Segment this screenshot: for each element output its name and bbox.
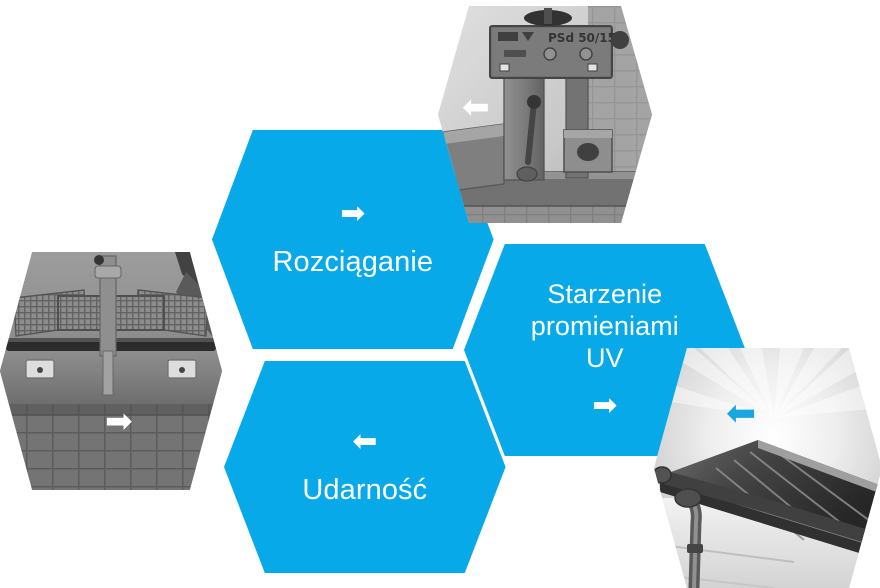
hex-caption-starzenie-uv: Starzenie promieniami UV: [531, 279, 679, 375]
hex-photo-tensile-testing-rig: ➡: [0, 252, 222, 490]
hex-caption-rozciaganie: Rozciąganie: [272, 245, 433, 279]
infographic-canvas: ➡ ➡ Rozciąganie: [0, 0, 880, 585]
hex-photo-impact-tester: PSd 50/15 ⬅: [438, 6, 652, 223]
arrow-right-icon-tensile-photo: ➡: [105, 404, 133, 437]
arrow-left-icon-roof-photo: ⬅: [726, 395, 756, 431]
tensile-testing-rig-photo: [0, 252, 222, 490]
arrow-right-icon-rozciaganie: ➡: [340, 199, 365, 229]
metal-roof-gutter-photo: [654, 348, 880, 588]
hex-photo-metal-roof-gutter: ⬅: [654, 348, 880, 588]
arrow-left-icon-udarnosc: ⬅: [352, 427, 377, 457]
arrow-right-icon-starzenie-uv: ➡: [592, 391, 617, 421]
hex-caption-udarnosc: Udarność: [302, 473, 427, 507]
hex-label-rozciaganie[interactable]: ➡ Rozciąganie: [212, 130, 494, 349]
arrow-left-icon-impact-photo: ⬅: [462, 90, 490, 123]
hex-label-udarnosc[interactable]: ⬅ Udarność: [224, 361, 506, 573]
